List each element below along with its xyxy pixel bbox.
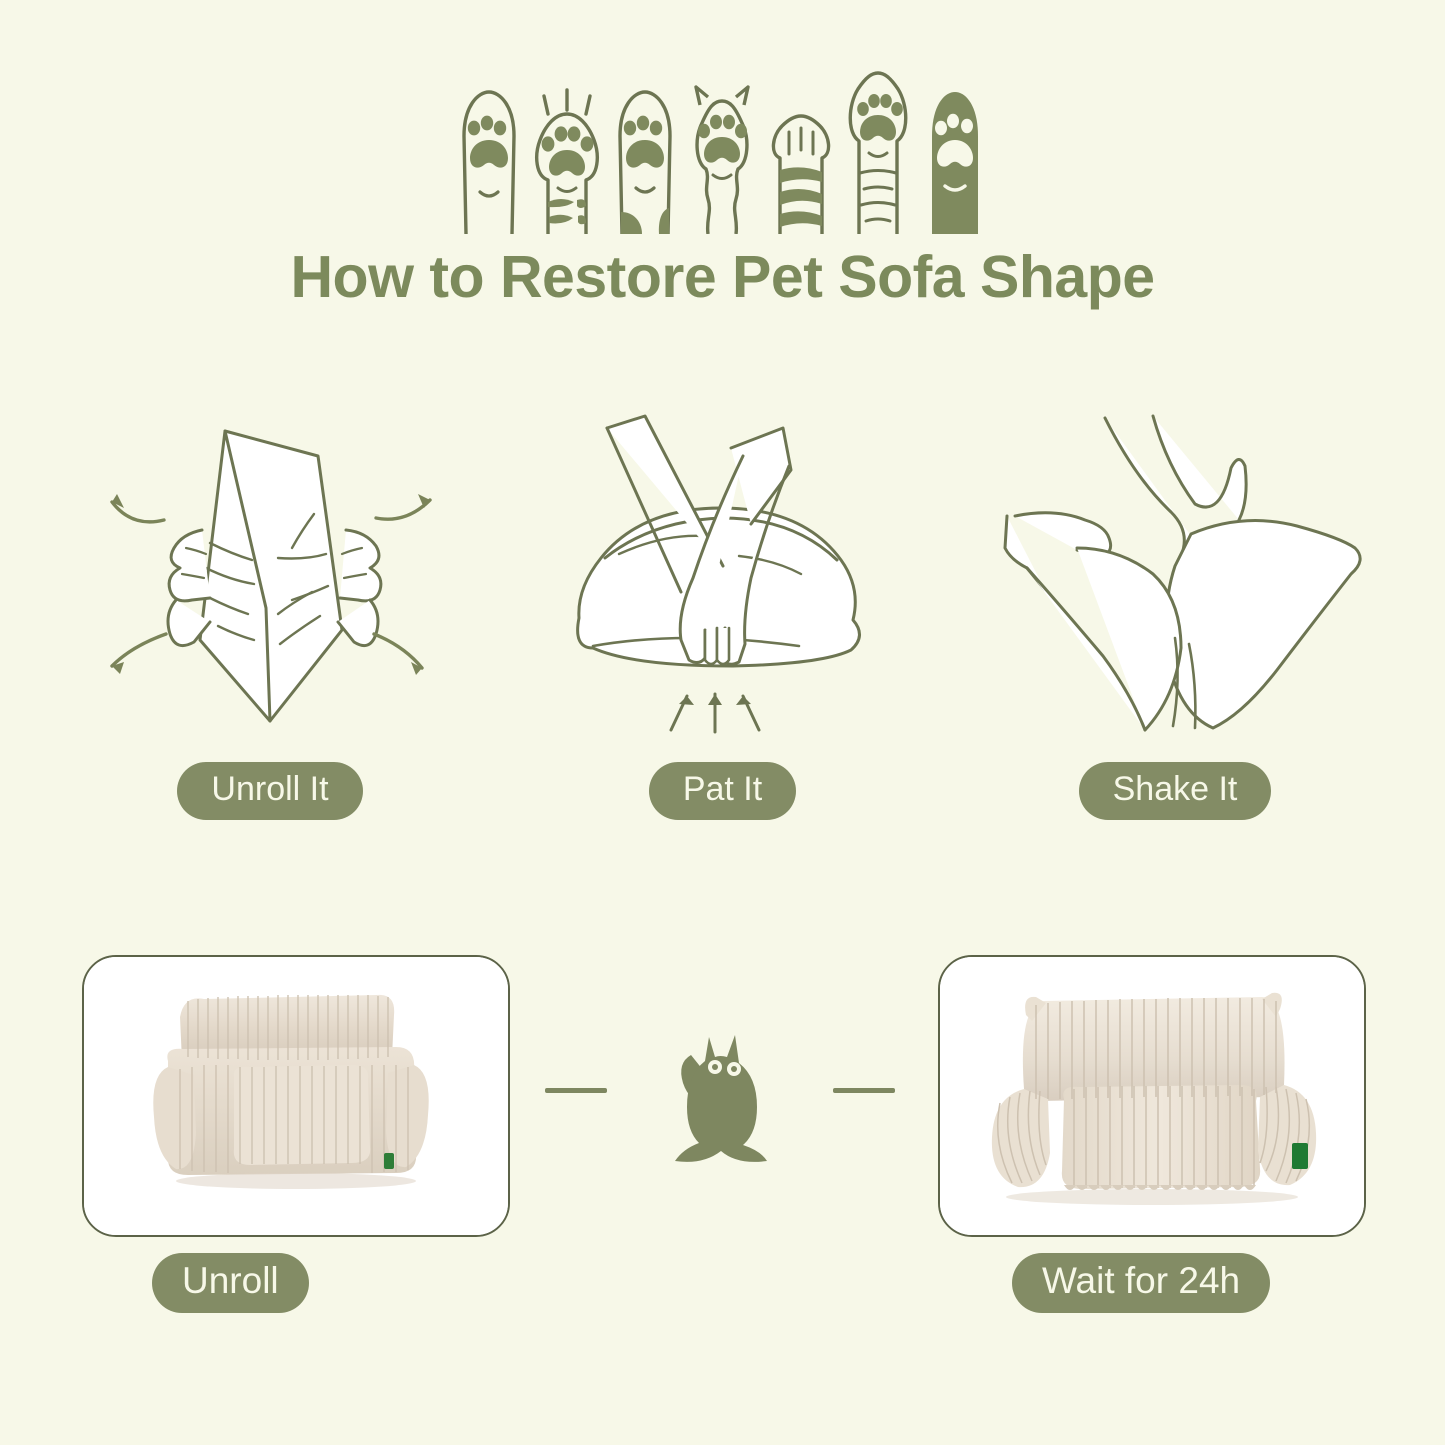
- paw-icon-plain: [456, 84, 522, 234]
- paw-icon-claws-striped: [528, 84, 606, 234]
- cat-silhouette-icon: [665, 1015, 775, 1165]
- hands-shaking-fabric-illustration: [985, 408, 1365, 738]
- hands-patting-cushion-illustration: [553, 408, 893, 738]
- page-title: How to Restore Pet Sofa Shape: [0, 243, 1445, 311]
- step-pat-it: Pat It: [523, 408, 923, 838]
- separator-dash-left: [545, 1088, 607, 1093]
- cat-paws-banner: [0, 62, 1445, 234]
- infographic-page: How to Restore Pet Sofa Shape: [0, 0, 1445, 1445]
- separator-dash-right: [833, 1088, 895, 1093]
- comparison-row: Unroll Wait for 24h: [0, 955, 1445, 1295]
- step-label-pat-it[interactable]: Pat It: [649, 762, 796, 820]
- comparison-separator: [545, 990, 895, 1190]
- paw-icon-solid: [920, 84, 990, 234]
- hands-unrolling-fabric-illustration: [70, 408, 470, 738]
- paw-icon-spotted: [612, 84, 678, 234]
- steps-row: Unroll It: [0, 408, 1445, 838]
- step-unroll-it: Unroll It: [70, 408, 470, 838]
- comparison-label-wait-24h[interactable]: Wait for 24h: [1012, 1253, 1270, 1313]
- paw-icon-zebra: [766, 84, 836, 234]
- step-label-unroll-it[interactable]: Unroll It: [177, 762, 362, 820]
- compressed-pet-sofa-photo: [82, 955, 510, 1237]
- step-label-shake-it[interactable]: Shake It: [1079, 762, 1272, 820]
- comparison-label-unroll[interactable]: Unroll: [152, 1253, 309, 1313]
- step-shake-it: Shake It: [975, 408, 1375, 838]
- restored-pet-sofa-photo: [938, 955, 1366, 1237]
- paw-icon-fluffy: [684, 79, 760, 234]
- paw-icon-tall-striped: [842, 69, 914, 234]
